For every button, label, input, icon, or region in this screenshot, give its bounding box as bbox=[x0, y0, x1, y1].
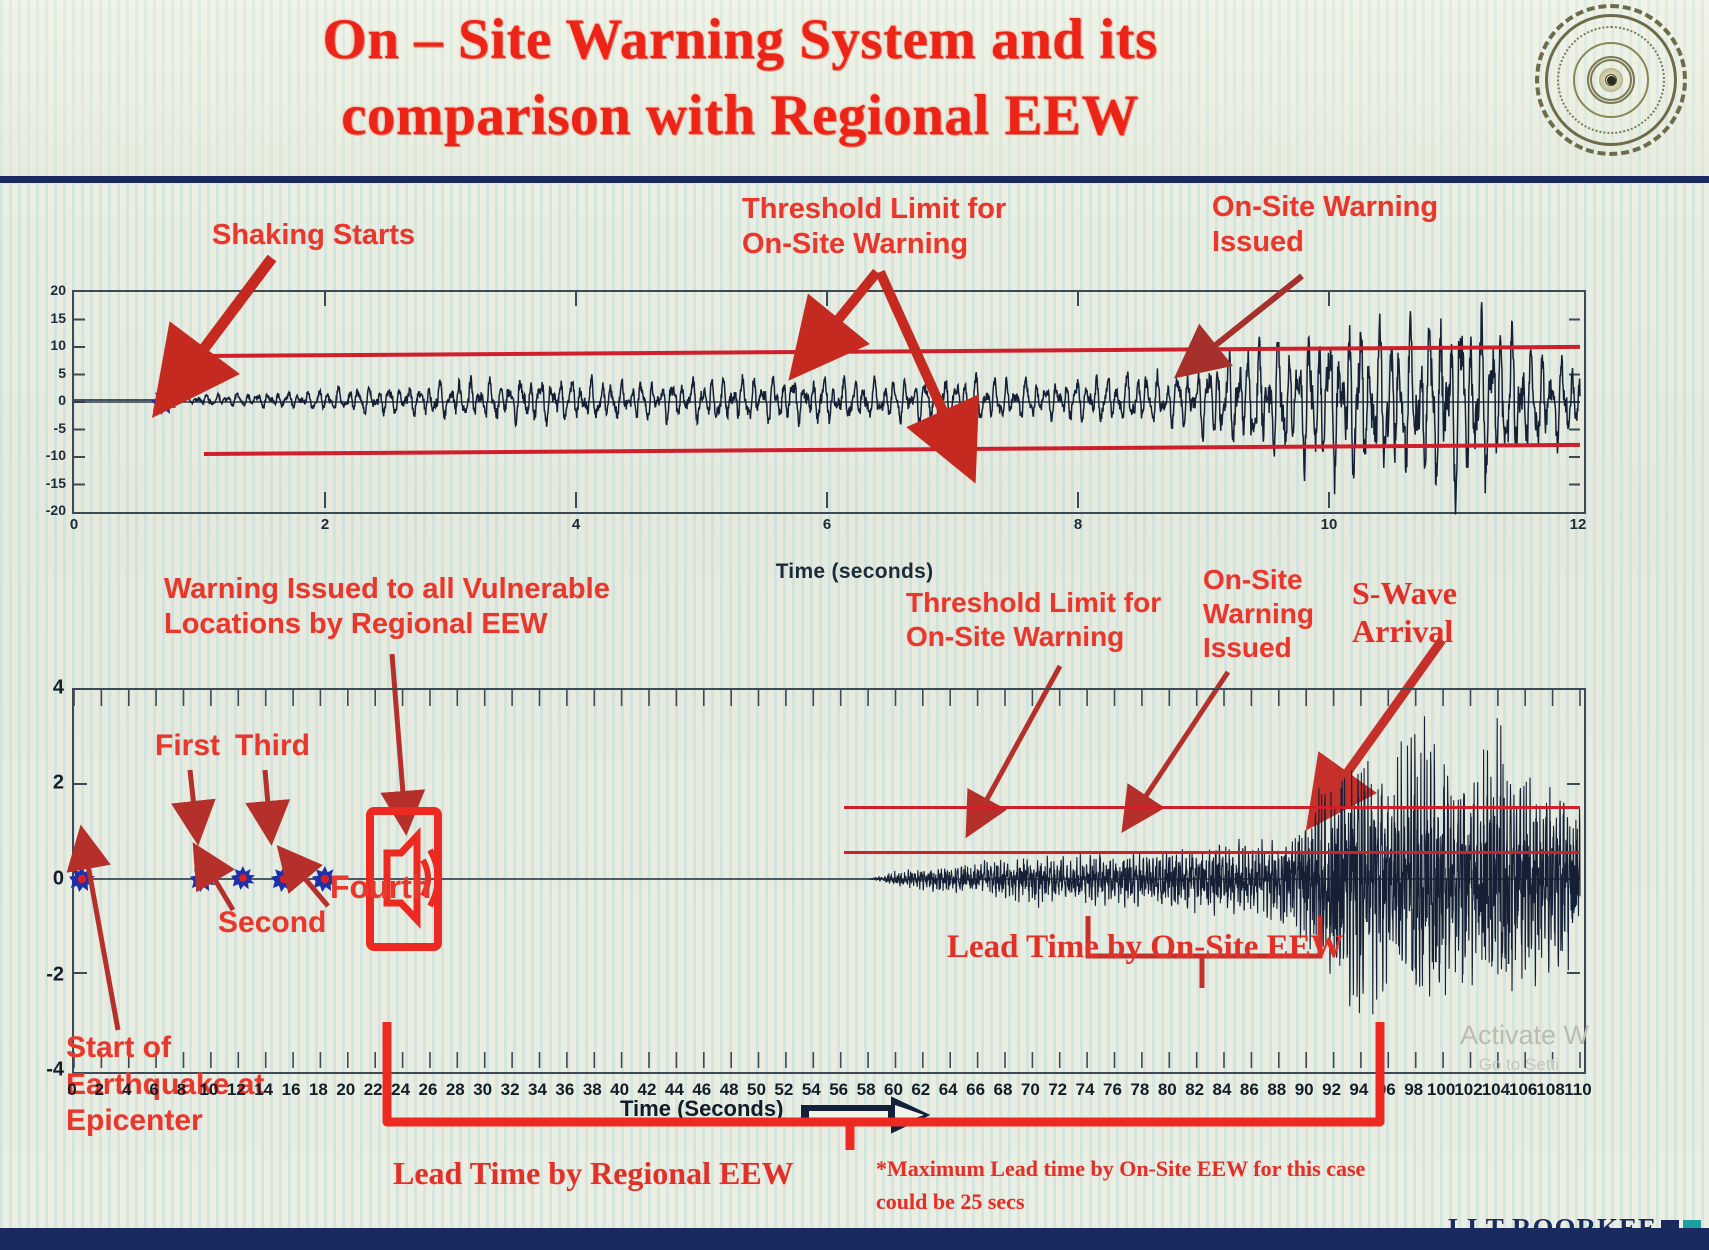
regional-warning-line2: Locations by Regional EEW bbox=[164, 607, 610, 642]
x-tick: 18 bbox=[309, 1080, 328, 1100]
y-tick: 20 bbox=[50, 282, 66, 298]
y-tick: -2 bbox=[46, 964, 64, 987]
footnote-line1: *Maximum Lead time by On-Site EEW for th… bbox=[876, 1152, 1365, 1185]
y-tick: -4 bbox=[46, 1059, 64, 1082]
x-tick: 2 bbox=[95, 1080, 104, 1100]
arrow-fourth bbox=[278, 862, 336, 910]
x-tick: 14 bbox=[254, 1080, 273, 1100]
y-tick: 4 bbox=[53, 677, 64, 700]
annotation-fourth: Fourth bbox=[330, 868, 431, 907]
x-tick: 98 bbox=[1404, 1080, 1423, 1100]
y-tick: -5 bbox=[54, 420, 66, 436]
x-tick: 10 bbox=[1321, 516, 1338, 533]
lead-time-regional-bracket bbox=[380, 1022, 1390, 1142]
x-tick: 12 bbox=[1570, 516, 1587, 533]
x-tick: 2 bbox=[321, 516, 329, 533]
arrow-threshold-limit-top bbox=[780, 268, 1050, 463]
annotation-threshold-limit-bottom: Threshold Limit for On-Site Warning bbox=[906, 586, 1161, 654]
annotation-onsite-warning-issued-top: On-Site Warning Issued bbox=[1212, 190, 1438, 261]
annotation-first: First bbox=[155, 728, 220, 765]
footer-bar bbox=[0, 1228, 1709, 1250]
swave-line1: S-Wave bbox=[1352, 574, 1457, 612]
y-tick: 0 bbox=[58, 392, 66, 408]
arrow-start-of-earthquake bbox=[74, 848, 134, 1038]
start-eq-line3: Epicenter bbox=[66, 1103, 264, 1140]
annotation-lead-time-regional: Lead Time by Regional EEW bbox=[393, 1154, 794, 1192]
annotation-footnote: *Maximum Lead time by On-Site EEW for th… bbox=[876, 1152, 1365, 1218]
slide-header: On – Site Warning System and its compari… bbox=[0, 0, 1709, 183]
page-title-line2: comparison with Regional EEW bbox=[140, 78, 1340, 154]
x-tick: 100 bbox=[1427, 1080, 1455, 1100]
threshold-line2: On-Site Warning bbox=[742, 227, 1006, 262]
x-tick: 0 bbox=[70, 516, 78, 533]
annotation-regional-warning: Warning Issued to all Vulnerable Locatio… bbox=[164, 572, 610, 643]
arrow-shaking-starts bbox=[150, 248, 290, 408]
x-tick: 16 bbox=[282, 1080, 301, 1100]
x-tick: 20 bbox=[336, 1080, 355, 1100]
x-tick: 4 bbox=[122, 1080, 131, 1100]
x-tick: 4 bbox=[572, 516, 580, 533]
y-tick: -15 bbox=[46, 475, 66, 491]
x-tick: 10 bbox=[199, 1080, 218, 1100]
onsite2-line3: Issued bbox=[1203, 631, 1314, 665]
annotation-third: Third bbox=[235, 728, 310, 765]
bottom-threshold-lower-line bbox=[844, 851, 1580, 854]
windows-activate-watermark-line1: Activate W bbox=[1460, 1020, 1589, 1051]
bottom-threshold-upper-line bbox=[844, 806, 1580, 809]
x-tick: 0 bbox=[67, 1080, 76, 1100]
x-tick: 6 bbox=[149, 1080, 158, 1100]
arrow-second bbox=[193, 862, 243, 914]
bottom-chart-y-axis-labels: 4 2 0 -2 -4 bbox=[22, 688, 64, 1070]
regional-warning-line1: Warning Issued to all Vulnerable bbox=[164, 572, 610, 607]
x-tick: 6 bbox=[823, 516, 831, 533]
page-title: On – Site Warning System and its compari… bbox=[140, 2, 1340, 154]
x-tick: 108 bbox=[1536, 1080, 1564, 1100]
onsite-issued-line2: Issued bbox=[1212, 225, 1438, 260]
annotation-threshold-limit-top: Threshold Limit for On-Site Warning bbox=[742, 192, 1006, 263]
footnote-line2: could be 25 secs bbox=[876, 1185, 1365, 1218]
y-tick: 0 bbox=[53, 868, 64, 891]
x-tick: 110 bbox=[1564, 1080, 1591, 1100]
onsite-issued-line1: On-Site Warning bbox=[1212, 190, 1438, 225]
top-chart-y-axis-labels: 20 15 10 5 0 -5 -10 -15 -20 bbox=[18, 290, 66, 510]
threshold2-line1: Threshold Limit for bbox=[906, 586, 1161, 620]
y-tick: 10 bbox=[50, 337, 66, 353]
x-tick: 102 bbox=[1454, 1080, 1482, 1100]
onsite2-line1: On-Site bbox=[1203, 563, 1314, 597]
onsite2-line2: Warning bbox=[1203, 597, 1314, 631]
y-tick: -20 bbox=[46, 502, 66, 518]
x-tick: 104 bbox=[1482, 1080, 1510, 1100]
threshold2-line2: On-Site Warning bbox=[906, 620, 1161, 654]
windows-activate-watermark-line2: Go to Setti bbox=[1479, 1055, 1559, 1075]
y-tick: 2 bbox=[53, 772, 64, 795]
x-tick: 106 bbox=[1509, 1080, 1537, 1100]
page-title-line1: On – Site Warning System and its bbox=[140, 2, 1340, 78]
arrow-third bbox=[253, 768, 283, 830]
annotation-onsite-warning-issued-bottom: On-Site Warning Issued bbox=[1203, 563, 1314, 665]
x-tick: 8 bbox=[1074, 516, 1082, 533]
y-tick: -10 bbox=[46, 447, 66, 463]
arrow-first bbox=[180, 768, 210, 830]
x-tick: 8 bbox=[177, 1080, 186, 1100]
threshold-line1: Threshold Limit for bbox=[742, 192, 1006, 227]
x-tick: 12 bbox=[227, 1080, 246, 1100]
slide-canvas: On – Site Warning System and its compari… bbox=[0, 0, 1709, 1250]
annotation-lead-time-onsite: Lead Time by On-Site EEW bbox=[947, 928, 1344, 968]
y-tick: 5 bbox=[58, 365, 66, 381]
iit-roorkee-emblem-icon bbox=[1535, 4, 1687, 156]
arrow-onsite-warning-top bbox=[1180, 270, 1320, 380]
y-tick: 15 bbox=[50, 310, 66, 326]
